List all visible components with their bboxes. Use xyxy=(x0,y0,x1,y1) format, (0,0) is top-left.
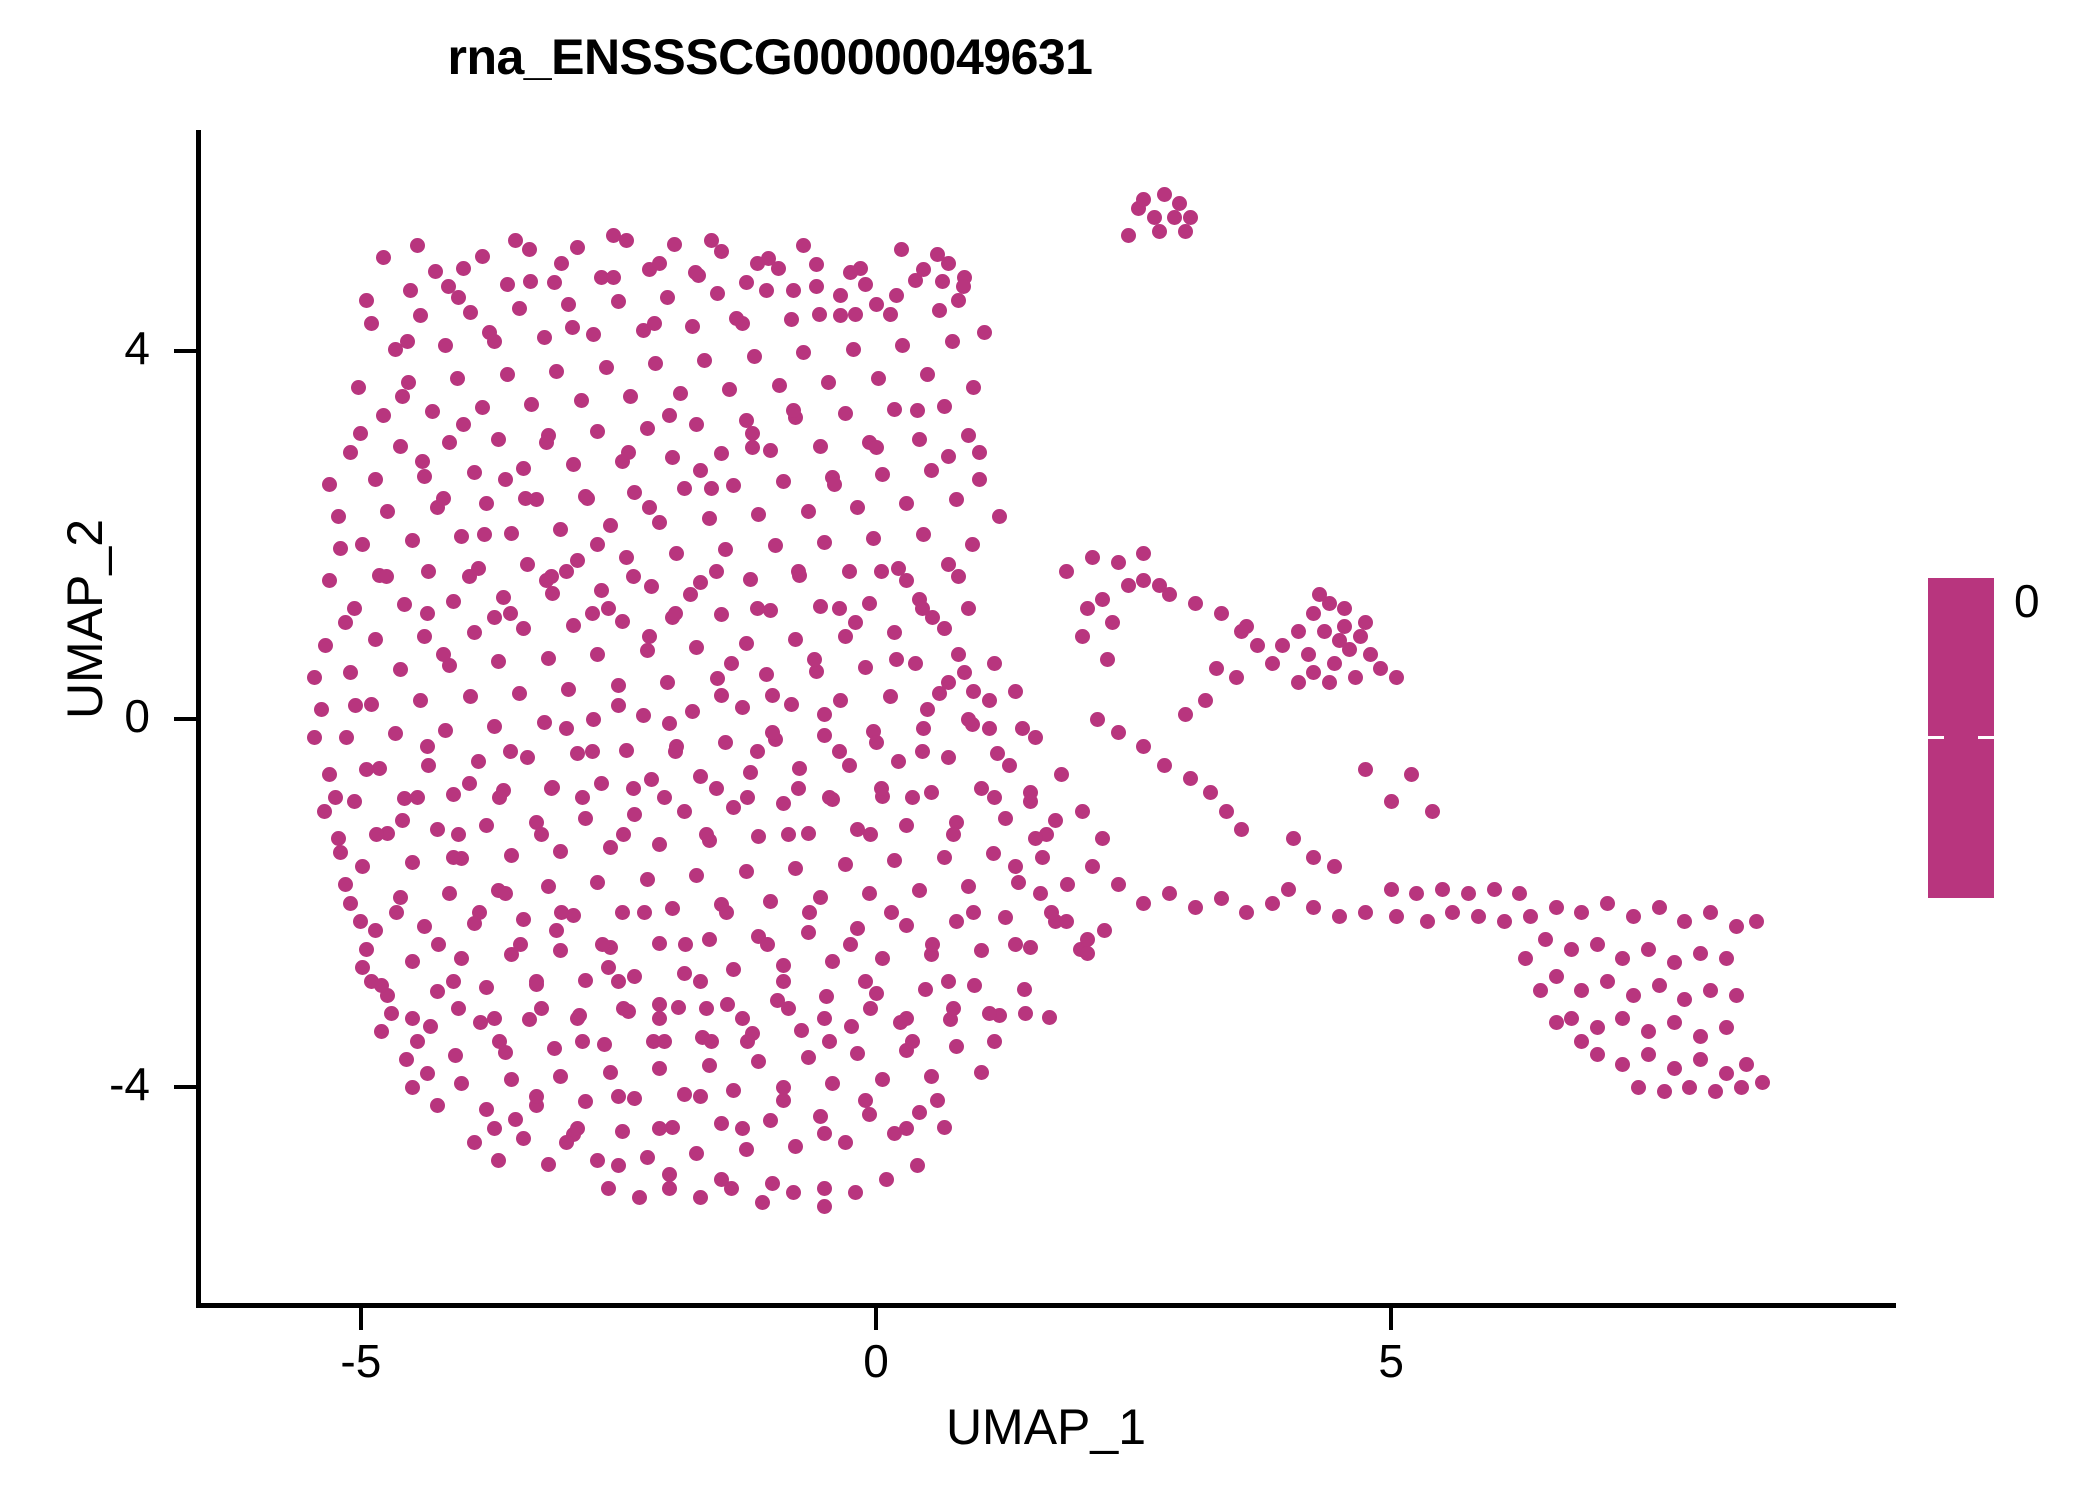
scatter-point xyxy=(875,1072,890,1087)
scatter-point xyxy=(395,813,410,828)
scatter-point xyxy=(739,864,754,879)
scatter-point xyxy=(503,606,518,621)
scatter-point xyxy=(667,237,682,252)
scatter-point xyxy=(1322,675,1337,690)
scatter-point xyxy=(1023,940,1038,955)
scatter-point xyxy=(1214,891,1229,906)
scatter-point xyxy=(858,1093,873,1108)
scatter-point xyxy=(912,432,927,447)
scatter-point xyxy=(924,785,939,800)
scatter-point xyxy=(1523,909,1538,924)
scatter-point xyxy=(355,537,370,552)
scatter-point xyxy=(987,1034,1002,1049)
scatter-point xyxy=(539,435,554,450)
scatter-point xyxy=(1178,707,1193,722)
scatter-point xyxy=(750,744,765,759)
scatter-point xyxy=(436,647,451,662)
scatter-point xyxy=(817,535,832,550)
scatter-point xyxy=(446,787,461,802)
scatter-point xyxy=(662,1181,677,1196)
scatter-point xyxy=(772,378,787,393)
scatter-point xyxy=(869,297,884,312)
scatter-point xyxy=(351,380,366,395)
scatter-point xyxy=(1097,923,1112,938)
scatter-point xyxy=(1162,886,1177,901)
scatter-point xyxy=(599,360,614,375)
scatter-point xyxy=(751,1054,766,1069)
scatter-point xyxy=(479,818,494,833)
scatter-point xyxy=(384,1006,399,1021)
scatter-point xyxy=(722,382,737,397)
scatter-point xyxy=(376,408,391,423)
scatter-point xyxy=(405,1080,420,1095)
scatter-point xyxy=(644,772,659,787)
scatter-point xyxy=(559,721,574,736)
scatter-point xyxy=(553,1069,568,1084)
scatter-point xyxy=(1121,578,1136,593)
scatter-point xyxy=(1693,1029,1708,1044)
scatter-point xyxy=(1152,224,1167,239)
scatter-point xyxy=(899,918,914,933)
scatter-point xyxy=(338,877,353,892)
scatter-point xyxy=(833,288,848,303)
scatter-point xyxy=(405,533,420,548)
scatter-point xyxy=(393,890,408,905)
scatter-point xyxy=(899,496,914,511)
scatter-point xyxy=(399,1052,414,1067)
scatter-point xyxy=(751,507,766,522)
scatter-point xyxy=(704,1034,719,1049)
scatter-point xyxy=(974,943,989,958)
scatter-point xyxy=(397,597,412,612)
scatter-point xyxy=(417,629,432,644)
scatter-point xyxy=(328,790,343,805)
scatter-point xyxy=(545,586,560,601)
scatter-point xyxy=(796,345,811,360)
scatter-point xyxy=(1487,882,1502,897)
x-axis-label: UMAP_1 xyxy=(196,1398,1896,1456)
scatter-point xyxy=(677,804,692,819)
scatter-point xyxy=(838,406,853,421)
scatter-point xyxy=(586,327,601,342)
scatter-point xyxy=(863,1001,878,1016)
scatter-point xyxy=(359,762,374,777)
scatter-point xyxy=(368,632,383,647)
scatter-point xyxy=(1549,969,1564,984)
scatter-point xyxy=(590,537,605,552)
scatter-point xyxy=(1358,905,1373,920)
scatter-point xyxy=(726,800,741,815)
scatter-point xyxy=(1574,983,1589,998)
scatter-point xyxy=(1471,909,1486,924)
scatter-point xyxy=(652,1121,667,1136)
scatter-point xyxy=(825,1076,840,1091)
scatter-point xyxy=(594,776,609,791)
scatter-point xyxy=(908,656,923,671)
scatter-point xyxy=(718,542,733,557)
scatter-point xyxy=(482,325,497,340)
scatter-point xyxy=(1234,624,1249,639)
scatter-point xyxy=(1017,982,1032,997)
scatter-point xyxy=(875,951,890,966)
scatter-point xyxy=(421,564,436,579)
scatter-point xyxy=(747,349,762,364)
scatter-point xyxy=(1384,882,1399,897)
scatter-point xyxy=(353,914,368,929)
scatter-point xyxy=(657,1034,672,1049)
scatter-point xyxy=(1035,850,1050,865)
scatter-point xyxy=(693,463,708,478)
scatter-point xyxy=(423,1019,438,1034)
scatter-point xyxy=(977,325,992,340)
scatter-point xyxy=(570,240,585,255)
scatter-point xyxy=(611,1089,626,1104)
scatter-point xyxy=(726,962,741,977)
scatter-point xyxy=(1600,896,1615,911)
scatter-point xyxy=(1015,721,1030,736)
scatter-point xyxy=(1054,767,1069,782)
scatter-point xyxy=(786,283,801,298)
scatter-point xyxy=(451,827,466,842)
scatter-point xyxy=(1564,942,1579,957)
scatter-point xyxy=(965,537,980,552)
scatter-point xyxy=(590,647,605,662)
scatter-point xyxy=(801,925,816,940)
scatter-point xyxy=(918,982,933,997)
scatter-point xyxy=(710,671,725,686)
scatter-point xyxy=(887,625,902,640)
scatter-point xyxy=(374,1024,389,1039)
scatter-point xyxy=(487,1011,502,1026)
scatter-point xyxy=(594,583,609,598)
scatter-point xyxy=(611,294,626,309)
scatter-point xyxy=(529,974,544,989)
scatter-point xyxy=(1080,601,1095,616)
scatter-point xyxy=(1703,905,1718,920)
scatter-point xyxy=(912,883,927,898)
scatter-point xyxy=(1667,1015,1682,1030)
scatter-point xyxy=(1095,592,1110,607)
scatter-point xyxy=(813,1109,828,1124)
scatter-point xyxy=(410,1034,425,1049)
scatter-point xyxy=(709,781,724,796)
scatter-point xyxy=(669,546,684,561)
scatter-point xyxy=(750,601,765,616)
scatter-point xyxy=(866,531,881,546)
scatter-point xyxy=(534,1001,549,1016)
scatter-point xyxy=(467,625,482,640)
scatter-point xyxy=(652,256,667,271)
scatter-point xyxy=(899,1011,914,1026)
scatter-point xyxy=(1312,587,1327,602)
scatter-point xyxy=(410,238,425,253)
scatter-point xyxy=(1600,974,1615,989)
scatter-point xyxy=(504,526,519,541)
scatter-point xyxy=(516,1131,531,1146)
scatter-point xyxy=(1445,905,1460,920)
scatter-point xyxy=(438,723,453,738)
scatter-point xyxy=(611,974,626,989)
scatter-point xyxy=(915,601,930,616)
scatter-point xyxy=(871,371,886,386)
scatter-point xyxy=(472,905,487,920)
scatter-point xyxy=(500,277,515,292)
scatter-point xyxy=(446,594,461,609)
scatter-point xyxy=(739,636,754,651)
scatter-point xyxy=(561,682,576,697)
scatter-point xyxy=(883,307,898,322)
scatter-point xyxy=(1363,647,1378,662)
scatter-point xyxy=(578,1094,593,1109)
scatter-point xyxy=(405,855,420,870)
scatter-point xyxy=(537,330,552,345)
scatter-point xyxy=(915,744,930,759)
scatter-point xyxy=(487,1121,502,1136)
scatter-point xyxy=(905,1034,920,1049)
scatter-point xyxy=(561,297,576,312)
scatter-point xyxy=(1100,652,1115,667)
scatter-point xyxy=(998,910,1013,925)
scatter-point xyxy=(1693,946,1708,961)
scatter-point xyxy=(570,1121,585,1136)
scatter-point xyxy=(1136,739,1151,754)
scatter-point xyxy=(974,781,989,796)
scatter-point xyxy=(492,1034,507,1049)
scatter-point xyxy=(671,1000,686,1015)
scatter-point xyxy=(559,1135,574,1150)
scatter-point xyxy=(393,439,408,454)
scatter-point xyxy=(1677,992,1692,1007)
scatter-point xyxy=(812,307,827,322)
scatter-point xyxy=(1533,983,1548,998)
scatter-point xyxy=(619,743,634,758)
scatter-point xyxy=(431,937,446,952)
scatter-point xyxy=(1059,564,1074,579)
scatter-point xyxy=(640,421,655,436)
scatter-point xyxy=(869,986,884,1001)
scatter-point xyxy=(575,1034,590,1049)
scatter-point xyxy=(623,389,638,404)
scatter-point xyxy=(1420,914,1435,929)
scatter-point xyxy=(401,375,416,390)
scatter-point xyxy=(456,417,471,432)
scatter-point xyxy=(549,364,564,379)
x-tick-label: -5 xyxy=(281,1338,441,1384)
scatter-point xyxy=(1708,1084,1723,1099)
scatter-point xyxy=(541,879,556,894)
colorbar-tick-label: 0 xyxy=(2014,578,2040,624)
scatter-point xyxy=(920,367,935,382)
scatter-point xyxy=(1219,804,1234,819)
scatter-point xyxy=(801,504,816,519)
scatter-point xyxy=(347,794,362,809)
scatter-point xyxy=(1121,228,1136,243)
scatter-point xyxy=(1549,900,1564,915)
scatter-point xyxy=(739,1142,754,1157)
scatter-point xyxy=(1306,606,1321,621)
scatter-point xyxy=(966,684,981,699)
scatter-point xyxy=(652,936,667,951)
scatter-point xyxy=(603,840,618,855)
scatter-point xyxy=(916,721,931,736)
scatter-point xyxy=(714,446,729,461)
scatter-point xyxy=(1682,1080,1697,1095)
scatter-point xyxy=(475,400,490,415)
scatter-point xyxy=(740,790,755,805)
scatter-point xyxy=(428,264,443,279)
scatter-point xyxy=(541,651,556,666)
scatter-point xyxy=(961,601,976,616)
scatter-point xyxy=(1291,624,1306,639)
scatter-point xyxy=(500,367,515,382)
scatter-point xyxy=(413,693,428,708)
scatter-point xyxy=(586,712,601,727)
scatter-point xyxy=(771,261,786,276)
scatter-point xyxy=(553,522,568,537)
scatter-point xyxy=(1060,877,1075,892)
scatter-point xyxy=(395,389,410,404)
scatter-point xyxy=(454,529,469,544)
scatter-point xyxy=(454,1076,469,1091)
scatter-point xyxy=(763,443,778,458)
scatter-point xyxy=(1042,1010,1057,1025)
scatter-point xyxy=(1564,1011,1579,1026)
scatter-point xyxy=(504,1072,519,1087)
scatter-point xyxy=(869,735,884,750)
scatter-point xyxy=(974,1065,989,1080)
scatter-point xyxy=(1018,1006,1033,1021)
scatter-point xyxy=(714,607,729,622)
scatter-point xyxy=(1574,905,1589,920)
scatter-point xyxy=(1028,730,1043,745)
scatter-point xyxy=(463,305,478,320)
scatter-point xyxy=(842,564,857,579)
scatter-point xyxy=(858,660,873,675)
scatter-point xyxy=(442,886,457,901)
scatter-point xyxy=(1002,758,1017,773)
scatter-point xyxy=(1306,900,1321,915)
scatter-point xyxy=(1136,896,1151,911)
scatter-point xyxy=(987,656,1002,671)
scatter-point xyxy=(838,1135,853,1150)
scatter-point xyxy=(1626,909,1641,924)
scatter-point xyxy=(1136,573,1151,588)
scatter-point xyxy=(1281,882,1296,897)
scatter-point xyxy=(887,402,902,417)
scatter-point xyxy=(813,890,828,905)
scatter-point xyxy=(1105,615,1120,630)
scatter-point xyxy=(910,403,925,418)
scatter-point xyxy=(662,1167,677,1182)
scatter-point xyxy=(1497,914,1512,929)
scatter-point xyxy=(1332,909,1347,924)
scatter-point xyxy=(372,761,387,776)
scatter-point xyxy=(1348,670,1363,685)
scatter-point xyxy=(1059,914,1074,929)
scatter-point xyxy=(745,440,760,455)
scatter-point xyxy=(660,675,675,690)
scatter-point xyxy=(714,1116,729,1131)
scatter-point xyxy=(415,454,430,469)
scatter-point xyxy=(611,698,626,713)
scatter-point xyxy=(463,689,478,704)
scatter-point xyxy=(549,923,564,938)
scatter-point xyxy=(1286,831,1301,846)
scatter-point xyxy=(724,656,739,671)
scatter-point xyxy=(343,665,358,680)
scatter-point xyxy=(930,1093,945,1108)
scatter-point xyxy=(640,872,655,887)
scatter-point xyxy=(1198,693,1213,708)
scatter-point xyxy=(1615,1057,1630,1072)
scatter-point xyxy=(1011,875,1026,890)
scatter-point xyxy=(347,601,362,616)
x-tick-mark xyxy=(874,1308,878,1330)
scatter-point xyxy=(791,781,806,796)
scatter-point xyxy=(1538,932,1553,947)
y-tick-mark xyxy=(174,717,196,721)
scatter-point xyxy=(477,527,492,542)
scatter-point xyxy=(699,1001,714,1016)
scatter-point xyxy=(318,638,333,653)
scatter-point xyxy=(718,735,733,750)
scatter-point xyxy=(1641,1024,1656,1039)
scatter-point xyxy=(832,744,847,759)
scatter-point xyxy=(916,527,931,542)
scatter-point xyxy=(520,750,535,765)
scatter-point xyxy=(547,275,562,290)
scatter-point xyxy=(1327,656,1342,671)
scatter-point xyxy=(380,504,395,519)
scatter-point xyxy=(937,850,952,865)
scatter-point xyxy=(961,879,976,894)
scatter-point xyxy=(726,1083,741,1098)
scatter-point xyxy=(615,1124,630,1139)
scatter-point xyxy=(1183,771,1198,786)
scatter-point xyxy=(640,1150,655,1165)
scatter-point xyxy=(967,978,982,993)
scatter-point xyxy=(807,652,822,667)
scatter-point xyxy=(1574,1034,1589,1049)
scatter-point xyxy=(946,827,961,842)
scatter-point xyxy=(479,1102,494,1117)
scatter-point xyxy=(1549,1015,1564,1030)
scatter-point xyxy=(1641,1047,1656,1062)
scatter-point xyxy=(619,233,634,248)
scatter-point xyxy=(776,1080,791,1095)
scatter-point xyxy=(508,1112,523,1127)
scatter-point xyxy=(858,277,873,292)
scatter-point xyxy=(1615,951,1630,966)
scatter-point xyxy=(400,334,415,349)
scatter-point xyxy=(364,316,379,331)
scatter-point xyxy=(603,1065,618,1080)
scatter-point xyxy=(1023,794,1038,809)
scatter-point xyxy=(987,790,1002,805)
scatter-point xyxy=(719,905,734,920)
scatter-point xyxy=(1203,785,1218,800)
scatter-point xyxy=(817,1181,832,1196)
scatter-point xyxy=(941,974,956,989)
scatter-point xyxy=(368,472,383,487)
scatter-point xyxy=(875,467,890,482)
scatter-point xyxy=(1425,804,1440,819)
scatter-point xyxy=(1626,988,1641,1003)
scatter-point xyxy=(339,730,354,745)
scatter-point xyxy=(615,905,630,920)
scatter-point xyxy=(491,654,506,669)
scatter-point xyxy=(553,943,568,958)
